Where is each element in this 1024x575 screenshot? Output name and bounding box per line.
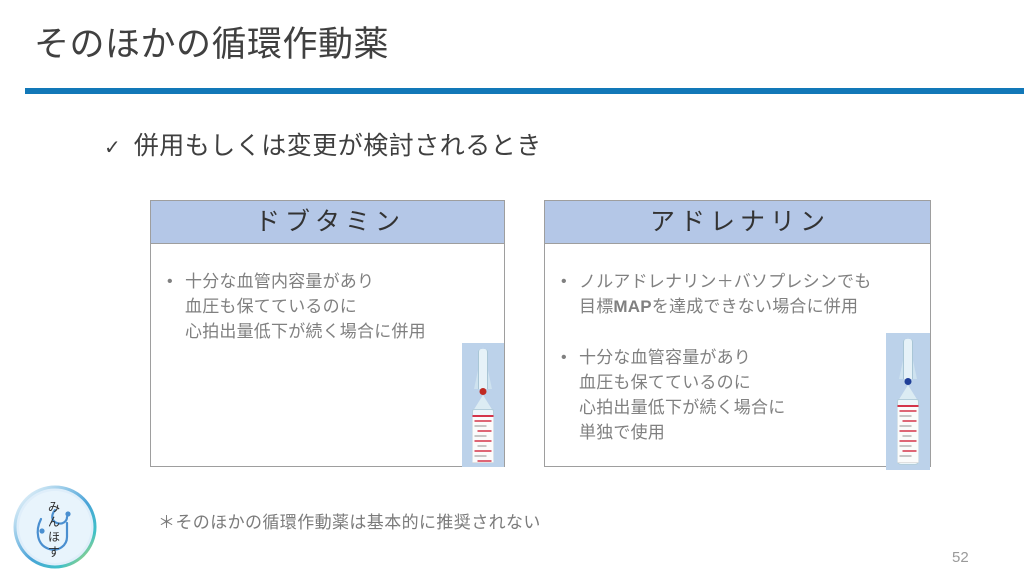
list-item-text: 十分な血管容量があり 血圧も保てているのに 心拍出量低下が続く場合に 単独で使用 — [579, 345, 785, 445]
dobutamine-ampoule-photo — [462, 343, 504, 467]
lead-bullet: ✓ 併用もしくは変更が検討されるとき — [104, 130, 542, 163]
logo-line-3: ほ — [48, 530, 60, 544]
footnote: ＊そのほかの循環作動薬は基本的に推奨されない — [158, 511, 541, 535]
logo-line-1: み — [48, 500, 60, 514]
lead-bullet-label: 併用もしくは変更が検討されるとき — [134, 130, 542, 162]
slide-canvas: そのほかの循環作動薬 ✓ 併用もしくは変更が検討されるとき ドブタミン • 十分… — [0, 0, 1024, 575]
adrenaline-ampoule-photo — [886, 333, 930, 470]
card-dobutamine: ドブタミン • 十分な血管内容量があり 血圧も保てているのに 心拍出量低下が続く… — [150, 200, 505, 467]
card-dobutamine-header: ドブタミン — [151, 201, 504, 244]
card-adrenaline-title: アドレナリン — [645, 208, 830, 236]
title-divider — [25, 88, 1024, 94]
ampoule-label-icon — [473, 415, 494, 463]
ampoule-neck-inner-icon — [903, 339, 913, 379]
list-item: • ノルアドレナリン＋バソプレシンでも 目標MAPを達成できない場合に併用 — [561, 269, 918, 319]
bullet-icon: • — [561, 345, 569, 370]
card-adrenaline: アドレナリン • ノルアドレナリン＋バソプレシンでも 目標MAPを達成できない場… — [544, 200, 931, 467]
ampoule-marker-dot-icon — [905, 378, 912, 385]
logo-line-4: す — [48, 545, 60, 559]
card-adrenaline-header: アドレナリン — [545, 201, 930, 244]
minhosu-logo: み ん ほ す — [11, 483, 99, 571]
list-item: • 十分な血管容量があり 血圧も保てているのに 心拍出量低下が続く場合に 単独で… — [561, 345, 918, 445]
check-icon: ✓ — [104, 133, 121, 163]
slide-number: 52 — [952, 549, 969, 567]
ampoule-marker-dot-icon — [480, 388, 487, 395]
card-dobutamine-body: • 十分な血管内容量があり 血圧も保てているのに 心拍出量低下が続く場合に併用 — [151, 245, 504, 466]
bullet-icon: • — [561, 269, 569, 294]
list-item: • 十分な血管内容量があり 血圧も保てているのに 心拍出量低下が続く場合に併用 — [167, 269, 492, 344]
list-item-text: ノルアドレナリン＋バソプレシンでも 目標MAPを達成できない場合に併用 — [579, 269, 871, 319]
list-item-text: 十分な血管内容量があり 血圧も保てているのに 心拍出量低下が続く場合に併用 — [185, 269, 426, 344]
ampoule-neck-inner-icon — [478, 349, 488, 389]
card-dobutamine-title: ドブタミン — [250, 208, 405, 236]
bullet-icon: • — [167, 269, 175, 294]
card-adrenaline-body: • ノルアドレナリン＋バソプレシンでも 目標MAPを達成できない場合に併用 • … — [545, 245, 930, 466]
logo-line-2: ん — [48, 515, 60, 529]
page-title: そのほかの循環作動薬 — [34, 23, 389, 67]
ampoule-label-icon — [898, 405, 919, 463]
